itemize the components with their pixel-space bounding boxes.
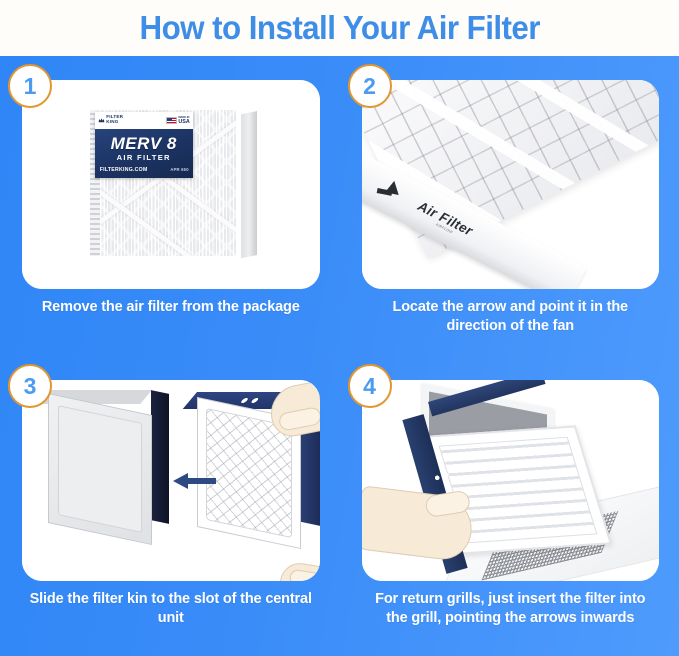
central-unit-slot [48, 390, 170, 542]
step-number-badge-4: 4 [348, 364, 392, 408]
step-3: 3 [0, 356, 340, 656]
filter-photo: FILTER KING MADE IN USA [85, 105, 257, 265]
made-in-usa-badge: MADE IN USA [166, 115, 190, 126]
step-number-2: 2 [363, 75, 376, 98]
step-image-card-4 [362, 380, 660, 581]
step-image-card-3 [22, 380, 320, 581]
usa-label: USA [178, 119, 189, 125]
crown-icon [98, 117, 105, 124]
step-number-badge-3: 3 [8, 364, 52, 408]
step-2: 2 Air Filter AIRFLOW [340, 56, 679, 356]
unit-front-face [48, 393, 152, 545]
step-caption-4: For return grills, just insert the filte… [362, 590, 660, 627]
apr-rating: APR 650 [170, 167, 188, 172]
step-image-card-2: Air Filter AIRFLOW [362, 80, 660, 289]
page-title: How to Install Your Air Filter [139, 9, 539, 47]
slide-filter-illustration [22, 380, 320, 581]
unit-inner-panel [58, 405, 142, 533]
step-caption-2: Locate the arrow and point it in the dir… [362, 298, 660, 335]
brand-website: FILTERKING.COM [100, 167, 148, 173]
filter-corner-wrap: Air Filter AIRFLOW [362, 80, 660, 289]
hand-inserting-filter [362, 485, 475, 562]
merv-rating-text: MERV 8 [95, 134, 193, 154]
return-grill-illustration [362, 380, 660, 581]
direction-arrow-icon [172, 472, 216, 490]
infographic-page: How to Install Your Air Filter 1 [0, 0, 679, 656]
label-footer-strip: FILTERKING.COM APR 650 [100, 167, 189, 173]
step-number-badge-2: 2 [348, 64, 392, 108]
filter-corner-image: Air Filter AIRFLOW [362, 80, 660, 289]
step-caption-1: Remove the air filter from the package [22, 298, 320, 317]
brand-line-2: KING [106, 120, 123, 125]
label-header-strip: FILTER KING MADE IN USA [95, 112, 193, 129]
header-band: How to Install Your Air Filter [0, 0, 679, 56]
brand-text: FILTER KING [106, 115, 123, 125]
filter-king-logo: FILTER KING [98, 115, 123, 125]
step-image-card-1: FILTER KING MADE IN USA [22, 80, 320, 289]
step-number-4: 4 [363, 375, 376, 398]
step-number-3: 3 [24, 375, 37, 398]
usa-text: MADE IN USA [178, 115, 189, 126]
unit-slot-opening [151, 390, 169, 524]
step-number-badge-1: 1 [8, 64, 52, 108]
step-4: 4 For [340, 356, 679, 656]
air-filter-subtitle: AIR FILTER [95, 153, 193, 162]
step-1: 1 [0, 56, 340, 356]
step-caption-3: Slide the filter kin to the slot of the … [22, 590, 320, 627]
air-filter-product-image: FILTER KING MADE IN USA [22, 80, 320, 289]
step-number-1: 1 [24, 75, 37, 98]
usa-flag-icon [166, 117, 177, 124]
filter-product-label: FILTER KING MADE IN USA [95, 112, 193, 178]
hand-lower [278, 560, 320, 581]
steps-grid: 1 [0, 56, 679, 656]
